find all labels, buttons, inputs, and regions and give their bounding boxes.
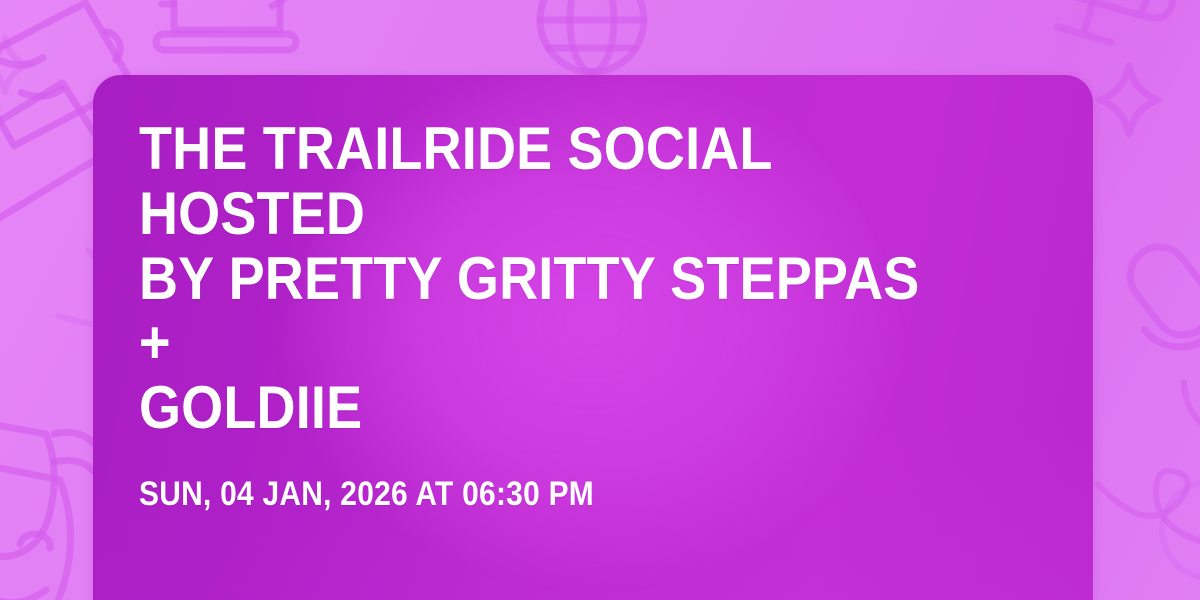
- microphone-icon: [1128, 228, 1200, 388]
- circle-deco-icon: [1150, 470, 1200, 590]
- sparkle-icon: [1094, 60, 1164, 140]
- swirl-icon: [1080, 400, 1200, 600]
- sparkle-small-icon: [0, 30, 40, 100]
- event-title: THE TRAILRIDE SOCIAL HOSTED BY PRETTY GR…: [139, 117, 956, 441]
- event-title-line-2: BY PRETTY GRITTY STEPPAS +: [139, 245, 919, 377]
- event-card-content: THE TRAILRIDE SOCIAL HOSTED BY PRETTY GR…: [93, 75, 1093, 514]
- event-title-line-1: THE TRAILRIDE SOCIAL HOSTED: [139, 115, 772, 247]
- event-banner: THE TRAILRIDE SOCIAL HOSTED BY PRETTY GR…: [0, 0, 1200, 600]
- event-date: SUN, 04 JAN, 2026 AT 06:30 PM: [139, 475, 938, 514]
- event-card: THE TRAILRIDE SOCIAL HOSTED BY PRETTY GR…: [93, 75, 1093, 600]
- event-title-line-3: GOLDIIE: [139, 374, 362, 441]
